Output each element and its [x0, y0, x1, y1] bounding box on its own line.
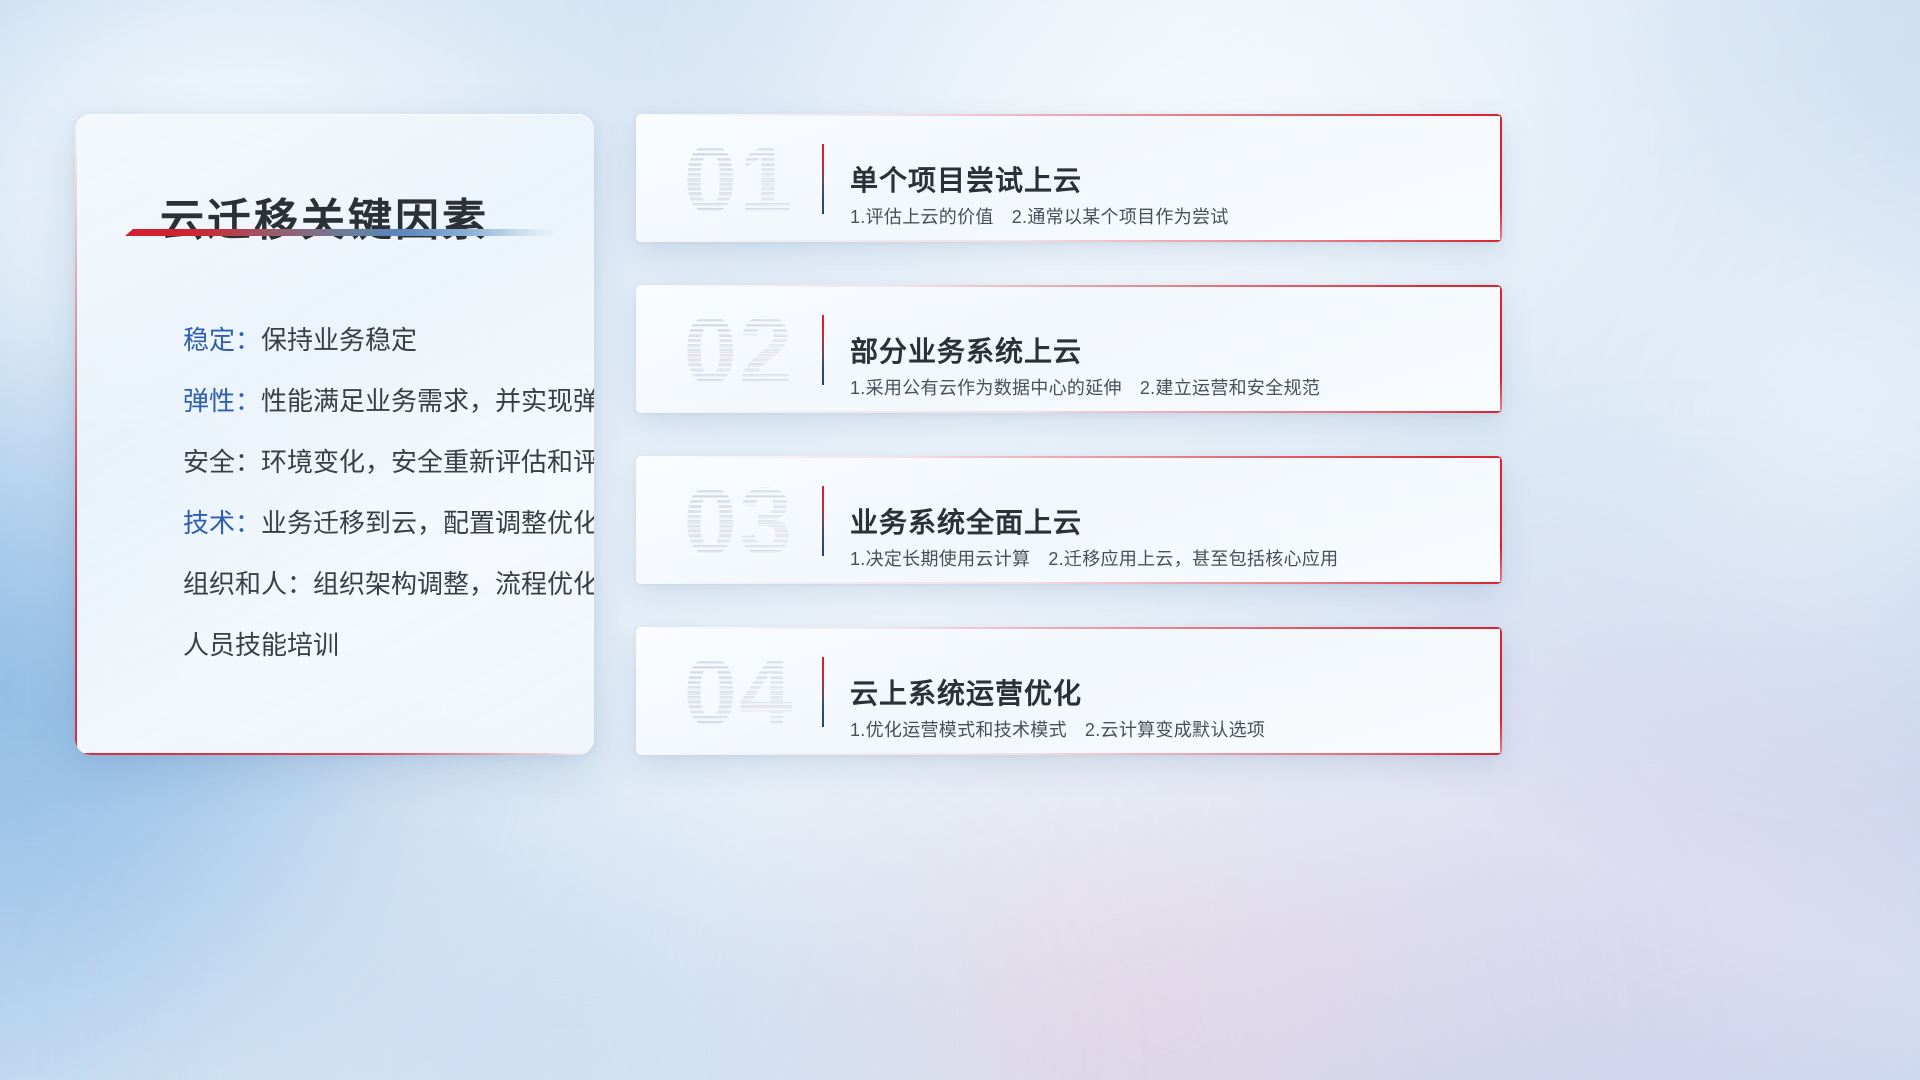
stage-title: 单个项目尝试上云	[850, 159, 1082, 199]
stage-divider-bar	[822, 657, 824, 727]
stage-point: 2.建立运营和安全规范	[1140, 378, 1320, 398]
factor-row: 稳定：保持业务稳定	[103, 310, 574, 371]
stage-point: 1.采用公有云作为数据中心的延伸	[850, 378, 1122, 398]
factor-value: 人员技能培训	[183, 630, 339, 660]
stage-number: 01	[664, 128, 814, 232]
factor-list: 稳定：保持业务稳定弹性：性能满足业务需求，并实现弹性安全：环境变化，安全重新评估…	[103, 310, 574, 676]
stage-card-bottom-accent	[636, 411, 1502, 413]
factor-row: 人员技能培训	[103, 615, 574, 676]
stage-title: 业务系统全面上云	[850, 501, 1082, 541]
stage-number: 02	[664, 299, 814, 403]
stage-card-bottom-accent	[636, 582, 1502, 584]
factor-label: 稳定：	[183, 325, 261, 355]
factor-value: 组织架构调整，流程优化，	[313, 569, 594, 599]
stage-points: 1.优化运营模式和技术模式2.云计算变成默认选项	[850, 716, 1265, 742]
factor-value: 性能满足业务需求，并实现弹性	[261, 386, 594, 416]
stage-card[interactable]: 0101单个项目尝试上云1.评估上云的价值2.通常以某个项目作为尝试	[636, 114, 1502, 242]
title-underline-gradient	[125, 229, 557, 236]
stage-divider-bar	[822, 144, 824, 214]
factor-label: 安全：	[183, 447, 261, 477]
stage-card-bottom-accent	[636, 753, 1502, 755]
factor-row: 组织和人：组织架构调整，流程优化，	[103, 554, 574, 615]
cloud-migration-stage-cards: 0101单个项目尝试上云1.评估上云的价值2.通常以某个项目作为尝试0202部分…	[636, 114, 1502, 798]
stage-number: 04	[664, 641, 814, 745]
factor-label: 技术：	[183, 508, 261, 538]
stage-card[interactable]: 0202部分业务系统上云1.采用公有云作为数据中心的延伸2.建立运营和安全规范	[636, 285, 1502, 413]
stage-card-bottom-accent	[636, 240, 1502, 242]
factor-value: 保持业务稳定	[261, 325, 417, 355]
stage-points: 1.评估上云的价值2.通常以某个项目作为尝试	[850, 203, 1229, 229]
stage-divider-bar	[822, 486, 824, 556]
stage-title: 部分业务系统上云	[850, 330, 1082, 370]
factor-value: 环境变化，安全重新评估和评审	[261, 447, 594, 477]
stage-point: 1.决定长期使用云计算	[850, 549, 1030, 569]
stage-point: 2.通常以某个项目作为尝试	[1012, 207, 1229, 227]
stage-point: 1.评估上云的价值	[850, 207, 994, 227]
stage-card[interactable]: 0404云上系统运营优化1.优化运营模式和技术模式2.云计算变成默认选项	[636, 627, 1502, 755]
factor-label: 组织和人：	[183, 569, 313, 599]
stage-points: 1.采用公有云作为数据中心的延伸2.建立运营和安全规范	[850, 374, 1320, 400]
stage-number: 03	[664, 470, 814, 574]
factor-row: 弹性：性能满足业务需求，并实现弹性	[103, 371, 574, 432]
stage-point: 2.云计算变成默认选项	[1085, 720, 1265, 740]
stage-card[interactable]: 0303业务系统全面上云1.决定长期使用云计算2.迁移应用上云，甚至包括核心应用	[636, 456, 1502, 584]
page-title: 云迁移关键因素	[160, 184, 489, 248]
stage-point: 1.优化运营模式和技术模式	[850, 720, 1067, 740]
stage-title: 云上系统运营优化	[850, 672, 1082, 712]
stage-divider-bar	[822, 315, 824, 385]
stage-points: 1.决定长期使用云计算2.迁移应用上云，甚至包括核心应用	[850, 545, 1338, 571]
factor-row: 安全：环境变化，安全重新评估和评审	[103, 432, 574, 493]
stage-point: 2.迁移应用上云，甚至包括核心应用	[1048, 549, 1338, 569]
factor-value: 业务迁移到云，配置调整优化	[261, 508, 594, 538]
key-factors-panel: 云迁移关键因素 稳定：保持业务稳定弹性：性能满足业务需求，并实现弹性安全：环境变…	[75, 114, 594, 755]
factor-label: 弹性：	[183, 386, 261, 416]
factor-row: 技术：业务迁移到云，配置调整优化	[103, 493, 574, 554]
